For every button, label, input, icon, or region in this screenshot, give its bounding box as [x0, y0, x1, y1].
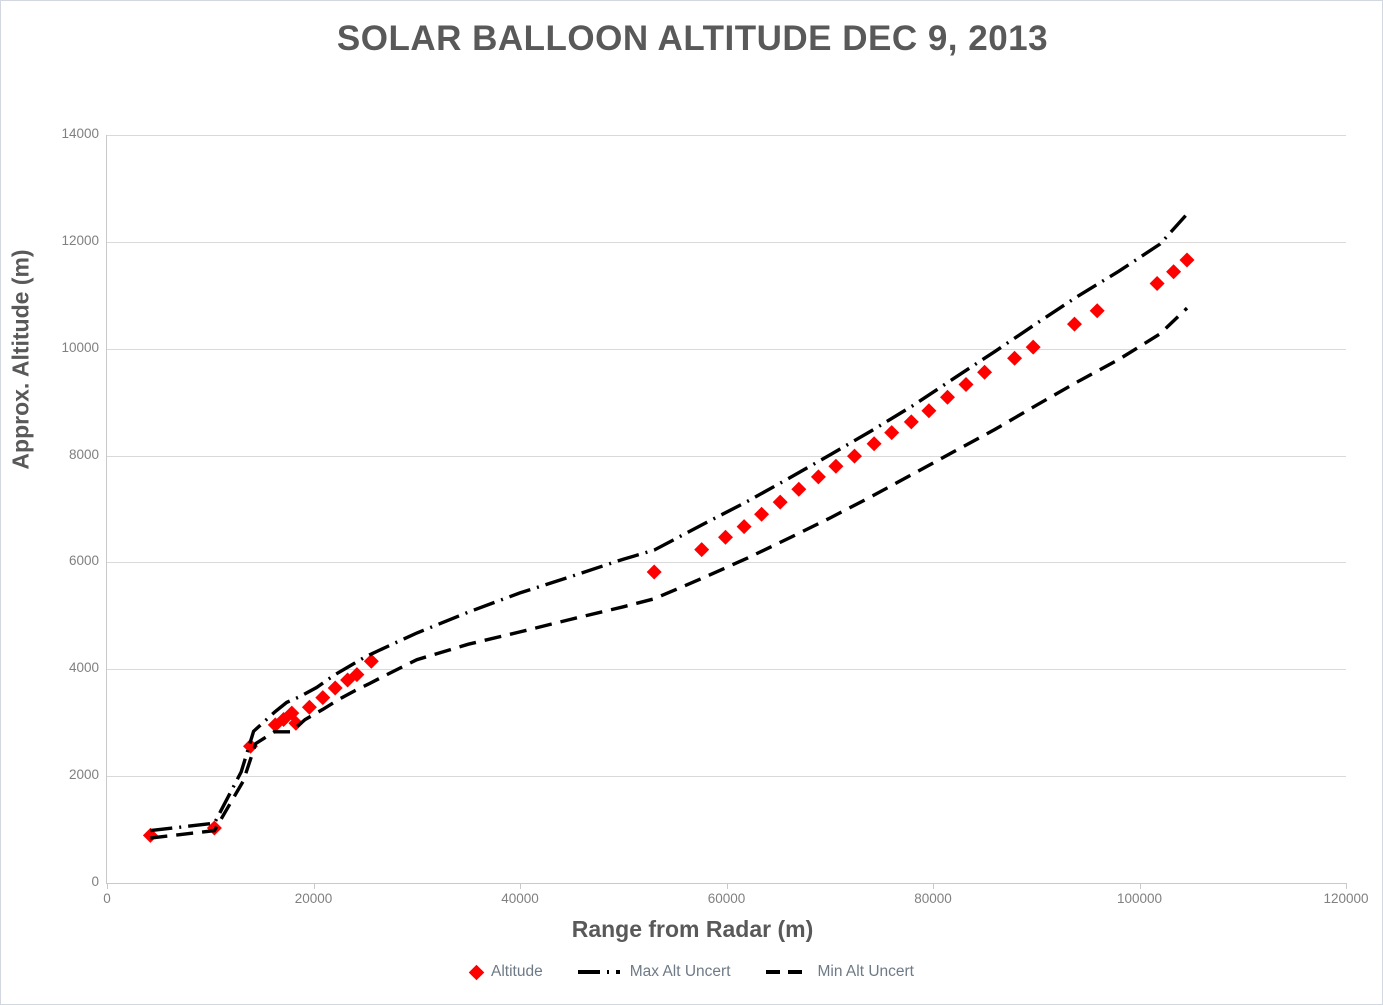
data-point	[694, 542, 709, 557]
x-tick-label: 0	[47, 891, 167, 906]
legend-label: Max Alt Uncert	[630, 963, 731, 981]
chart-legend: AltitudeMax Alt UncertMin Alt Uncert	[1, 963, 1383, 981]
legend-dashed-line-icon	[765, 966, 809, 978]
data-point	[867, 436, 882, 451]
data-point	[364, 654, 379, 669]
data-point	[773, 495, 788, 510]
data-point	[1166, 264, 1181, 279]
legend-label: Altitude	[491, 963, 543, 981]
data-point	[791, 482, 806, 497]
x-tick-label: 80000	[873, 891, 993, 906]
data-point	[811, 469, 826, 484]
data-point	[1007, 351, 1022, 366]
x-tick-label: 120000	[1286, 891, 1383, 906]
x-tick-label: 20000	[254, 891, 374, 906]
data-point	[328, 681, 343, 696]
data-point	[1067, 317, 1082, 332]
data-point	[977, 365, 992, 380]
chart-title: SOLAR BALLOON ALTITUDE DEC 9, 2013	[1, 19, 1383, 59]
x-tick-mark	[727, 883, 728, 889]
series-line-max-alt-uncert	[150, 214, 1187, 831]
data-point	[647, 565, 662, 580]
data-point	[1090, 303, 1105, 318]
x-tick-mark	[107, 883, 108, 889]
y-tick-label: 8000	[29, 447, 99, 462]
y-tick-label: 12000	[29, 233, 99, 248]
series-line-min-alt-uncert	[150, 308, 1187, 838]
data-point	[315, 690, 330, 705]
x-tick-mark	[1346, 883, 1347, 889]
legend-diamond-icon	[469, 964, 485, 980]
x-tick-label: 40000	[460, 891, 580, 906]
y-tick-label: 10000	[29, 340, 99, 355]
data-point	[828, 459, 843, 474]
x-tick-mark	[1140, 883, 1141, 889]
y-tick-label: 0	[29, 874, 99, 889]
legend-item-max-alt-uncert[interactable]: Max Alt Uncert	[577, 963, 731, 981]
y-axis-title: Approx. Altitude (m)	[8, 180, 35, 540]
data-point	[1180, 253, 1195, 268]
legend-item-altitude[interactable]: Altitude	[471, 963, 543, 981]
data-point	[847, 449, 862, 464]
x-tick-label: 60000	[667, 891, 787, 906]
x-axis-title: Range from Radar (m)	[1, 916, 1383, 943]
data-point	[904, 414, 919, 429]
x-tick-label: 100000	[1080, 891, 1200, 906]
legend-dash-dot-line-icon	[577, 966, 621, 978]
x-tick-mark	[933, 883, 934, 889]
series-points-altitude	[143, 253, 1195, 843]
data-point	[302, 700, 317, 715]
x-tick-mark	[314, 883, 315, 889]
y-tick-label: 6000	[29, 553, 99, 568]
data-point	[884, 425, 899, 440]
legend-item-min-alt-uncert[interactable]: Min Alt Uncert	[765, 963, 914, 981]
data-point	[718, 530, 733, 545]
y-tick-label: 4000	[29, 660, 99, 675]
data-layer	[107, 135, 1346, 883]
data-point	[1150, 276, 1165, 291]
x-tick-mark	[520, 883, 521, 889]
data-point	[1026, 340, 1041, 355]
data-point	[921, 403, 936, 418]
data-point	[940, 390, 955, 405]
y-tick-label: 2000	[29, 767, 99, 782]
y-tick-label: 14000	[29, 126, 99, 141]
data-point	[754, 507, 769, 522]
legend-label: Min Alt Uncert	[818, 963, 914, 981]
chart-window: SOLAR BALLOON ALTITUDE DEC 9, 2013 02000…	[0, 0, 1383, 1005]
data-point	[737, 519, 752, 534]
data-point	[959, 377, 974, 392]
